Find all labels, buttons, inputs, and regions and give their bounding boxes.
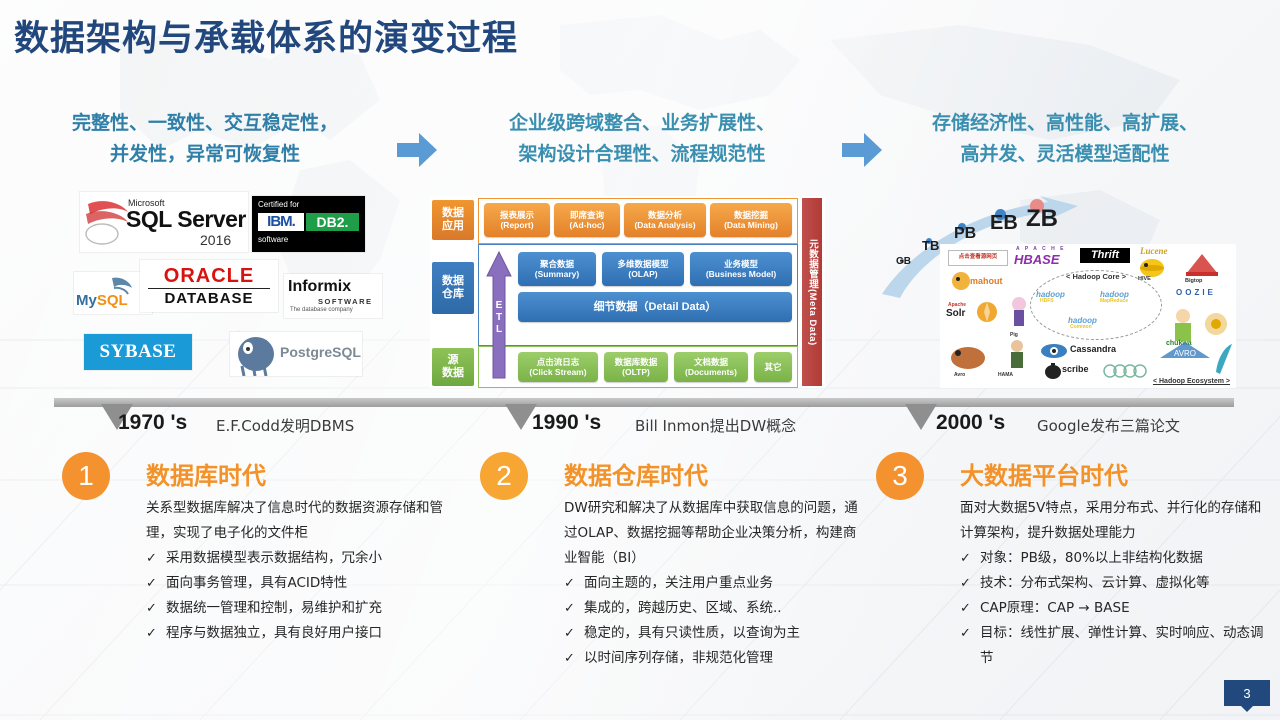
era-card-3-title: 大数据平台时代 bbox=[960, 456, 1128, 491]
stage3-header-line1: 存储经济性、高性能、高扩展、 bbox=[880, 108, 1250, 139]
eco-logo-scribe: scribe bbox=[1062, 364, 1089, 374]
era-card-3-body: 面对大数据5V特点，采用分布式、并行化的存储和计算架构，提升数据处理能力 ✓对象… bbox=[960, 496, 1272, 671]
volume-label-tb: TB bbox=[922, 238, 939, 253]
eco-logo-bigtop-label: Bigtop bbox=[1185, 278, 1202, 284]
eco-logo-scribe-icon bbox=[1044, 362, 1062, 380]
dw-side-label-application: 数据 应用 bbox=[432, 200, 474, 240]
logo-sql-server-name: SQL Server bbox=[126, 206, 246, 233]
timeline-year-3: 2000 's bbox=[936, 411, 1005, 435]
list-item: ✓数据统一管理和控制，易维护和扩充 bbox=[146, 596, 446, 621]
hadoop-ecosystem-image: 点击查看源网页 A P A C H E HBASE Thrift Lucene … bbox=[940, 244, 1236, 388]
era-card-1-number: 1 bbox=[62, 452, 110, 500]
dw-chip-click-stream: 点击流日志 (Click Stream) bbox=[518, 352, 598, 382]
volume-label-zb: ZB bbox=[1026, 205, 1058, 233]
dw-side-dwh-line2: 仓库 bbox=[442, 288, 464, 301]
eco-logo-avro-icon: AVRO bbox=[1158, 340, 1212, 366]
eco-logo-hdfs-sub: HDFS bbox=[1040, 298, 1054, 304]
stage1-header-line1: 完整性、一致性、交互稳定性， bbox=[40, 108, 370, 139]
dw-architecture-diagram: 数据 应用 数据 仓库 源 数据 报表展示 (Report) 即席查询 (Ad-… bbox=[430, 196, 825, 388]
logo-sybase: SYBASE bbox=[84, 334, 192, 370]
dw-chip-data-analysis: 数据分析 (Data Analysis) bbox=[624, 203, 706, 237]
dw-chip-other: 其它 bbox=[754, 352, 792, 382]
logo-informix-tagline: The database company bbox=[290, 307, 353, 313]
dw-chip-data-mining: 数据挖掘 (Data Mining) bbox=[710, 203, 792, 237]
check-icon: ✓ bbox=[564, 571, 575, 596]
dw-side-src-line2: 数据 bbox=[442, 367, 464, 380]
etl-label: ETL bbox=[489, 300, 509, 336]
volume-label-pb: PB bbox=[954, 225, 976, 243]
logo-db2-ibm-mark: IBM. bbox=[258, 213, 304, 231]
slide-canvas: 数据架构与承载体系的演变过程 完整性、一致性、交互稳定性， 并发性，异常可恢复性… bbox=[0, 0, 1280, 720]
era-card-2-bullets: ✓面向主题的，关注用户重点业务 ✓集成的，跨越历史、区域、系统.. ✓稳定的，具… bbox=[564, 571, 864, 671]
era-card-2-number: 2 bbox=[480, 452, 528, 500]
era-card-1-bullets: ✓采用数据模型表示数据结构，冗余小 ✓面向事务管理，具有ACID特性 ✓数据统一… bbox=[146, 546, 446, 646]
list-item: ✓程序与数据独立，具有良好用户接口 bbox=[146, 621, 446, 646]
eco-logo-common-sub: Common bbox=[1070, 324, 1092, 330]
check-icon: ✓ bbox=[564, 646, 575, 671]
stage2-header-line1: 企业级跨域整合、业务扩展性、 bbox=[452, 108, 832, 139]
eco-logo-hbase: HBASE bbox=[1014, 252, 1060, 267]
meta-data-management-bar: 元数据管理(Meta Data) bbox=[802, 198, 822, 386]
eco-logo-lucene: Lucene bbox=[1140, 246, 1168, 256]
logo-db2-software-text: software bbox=[258, 235, 288, 244]
stage3-header-line2: 高并发、灵活模型适配性 bbox=[880, 139, 1250, 170]
eco-logo-hama-icon bbox=[948, 338, 988, 372]
list-item: ✓目标：线性扩展、弹性计算、实时响应、动态调节 bbox=[960, 621, 1272, 671]
logo-informix: Informix SOFTWARE The database company bbox=[284, 274, 382, 318]
eco-logo-hama-label: Avro bbox=[954, 372, 965, 378]
dw-chip-summary: 聚合数据 (Summary) bbox=[518, 252, 596, 286]
dw-side-app-line1: 数据 bbox=[442, 207, 464, 220]
dw-side-label-source: 源 数据 bbox=[432, 348, 474, 386]
logo-postgresql: PostgreSQL bbox=[230, 332, 362, 376]
era-card-1-title: 数据库时代 bbox=[146, 456, 266, 491]
eco-logo-mahout-icon bbox=[950, 270, 972, 292]
hadoop-ecosystem-label: < Hadoop Ecosystem > bbox=[1153, 378, 1230, 385]
check-icon: ✓ bbox=[960, 546, 971, 571]
logo-informix-name: Informix bbox=[288, 278, 351, 296]
check-icon: ✓ bbox=[564, 596, 575, 621]
page-title: 数据架构与承载体系的演变过程 bbox=[14, 10, 518, 61]
timeline-marker-3 bbox=[905, 404, 937, 430]
eco-logo-bigtop-icon bbox=[1182, 252, 1222, 278]
logo-sql-server-year: 2016 bbox=[200, 232, 231, 248]
arrow-right-icon-1 bbox=[395, 128, 439, 172]
eco-logo-pig-icon bbox=[1006, 294, 1032, 332]
dw-chip-olap: 多维数据模型 (OLAP) bbox=[602, 252, 684, 286]
logo-oracle: ORACLE DATABASE bbox=[140, 260, 278, 312]
dw-side-app-line2: 应用 bbox=[442, 220, 464, 233]
check-icon: ✓ bbox=[146, 571, 157, 596]
check-icon: ✓ bbox=[146, 596, 157, 621]
stage1-header: 完整性、一致性、交互稳定性， 并发性，异常可恢复性 bbox=[40, 108, 370, 170]
eco-logo-sqoop-icon bbox=[1202, 310, 1230, 338]
logo-oracle-sub: DATABASE bbox=[150, 290, 268, 307]
check-icon: ✓ bbox=[960, 571, 971, 596]
era-card-1-body: 关系型数据库解决了信息时代的数据资源存储和管理，实现了电子化的文件柜 ✓采用数据… bbox=[146, 496, 446, 646]
stage2-header-line2: 架构设计合理性、流程规范性 bbox=[452, 139, 832, 170]
eco-logo-flume-icon bbox=[1212, 342, 1234, 376]
dw-chip-detail-data: 细节数据（Detail Data） bbox=[518, 292, 792, 322]
eco-logo-chukwa-icon bbox=[1168, 306, 1198, 344]
timeline-note-1: E.F.Codd发明DBMS bbox=[216, 415, 354, 436]
eco-logo-mahout: mahout bbox=[970, 276, 1003, 286]
logo-ibm-db2: Certified for IBM. DB2. software bbox=[252, 196, 365, 252]
list-item: ✓技术：分布式架构、云计算、虚拟化等 bbox=[960, 571, 1272, 596]
eco-logo-oozie: OOZIE bbox=[1176, 288, 1216, 297]
eco-logo-source-watermark: 点击查看源网页 bbox=[948, 250, 1008, 266]
list-item: ✓面向事务管理，具有ACID特性 bbox=[146, 571, 446, 596]
list-item: ✓对象：PB级，80%以上非结构化数据 bbox=[960, 546, 1272, 571]
era-card-3-bullets: ✓对象：PB级，80%以上非结构化数据 ✓技术：分布式架构、云计算、虚拟化等 ✓… bbox=[960, 546, 1272, 671]
era-card-2-body: DW研究和解决了从数据库中获取信息的问题，通过OLAP、数据挖掘等帮助企业决策分… bbox=[564, 496, 864, 671]
timeline-bar bbox=[54, 398, 1234, 407]
check-icon: ✓ bbox=[564, 621, 575, 646]
dw-side-dwh-line1: 数据 bbox=[442, 275, 464, 288]
era-card-3-number: 3 bbox=[876, 452, 924, 500]
timeline-year-2: 1990 's bbox=[532, 411, 601, 435]
volume-label-eb: EB bbox=[990, 212, 1018, 235]
page-number-badge: 3 bbox=[1224, 680, 1270, 706]
timeline-note-2: Bill Inmon提出DW概念 bbox=[635, 415, 796, 436]
era-card-2-title: 数据仓库时代 bbox=[564, 456, 708, 491]
check-icon: ✓ bbox=[960, 596, 971, 621]
logo-mysql-name: MySQL bbox=[76, 292, 128, 309]
volume-label-gb: GB bbox=[896, 256, 911, 267]
eco-logo-zookeeper-label: HAMA bbox=[998, 372, 1013, 378]
logo-informix-sub: SOFTWARE bbox=[318, 297, 373, 306]
timeline-note-3: Google发布三篇论文 bbox=[1037, 415, 1180, 436]
eco-logo-thrift: Thrift bbox=[1080, 248, 1130, 263]
dw-chip-documents: 文档数据 (Documents) bbox=[674, 352, 748, 382]
eco-logo-cassandra: Cassandra bbox=[1070, 344, 1116, 354]
era-card-1-paragraph: 关系型数据库解决了信息时代的数据资源存储和管理，实现了电子化的文件柜 bbox=[146, 496, 446, 546]
logo-oracle-name: ORACLE bbox=[150, 265, 268, 288]
logo-db2-mark: DB2. bbox=[306, 213, 359, 231]
eco-logo-sqoop-chain-icon bbox=[1102, 364, 1148, 378]
eco-logo-solr-icon bbox=[974, 300, 1000, 324]
hadoop-core-label: < Hadoop Core > bbox=[1036, 272, 1156, 281]
eco-logo-zookeeper-icon bbox=[1002, 338, 1032, 372]
arrow-right-icon-2 bbox=[840, 128, 884, 172]
dw-side-label-warehouse: 数据 仓库 bbox=[432, 262, 474, 314]
bigdata-ecosystem-panel: GB TB PB EB ZB 点击查看源网页 A P A C H E HBASE… bbox=[878, 196, 1238, 388]
eco-logo-cassandra-icon bbox=[1040, 342, 1068, 360]
logo-postgresql-name: PostgreSQL bbox=[280, 344, 361, 360]
dw-chip-business-model: 业务模型 (Business Model) bbox=[690, 252, 792, 286]
dw-chip-adhoc: 即席查询 (Ad-hoc) bbox=[554, 203, 620, 237]
stage3-header: 存储经济性、高性能、高扩展、 高并发、灵活模型适配性 bbox=[880, 108, 1250, 170]
dw-side-src-line1: 源 bbox=[448, 354, 459, 367]
era-card-2-paragraph: DW研究和解决了从数据库中获取信息的问题，通过OLAP、数据挖掘等帮助企业决策分… bbox=[564, 496, 864, 571]
check-icon: ✓ bbox=[146, 621, 157, 646]
dw-chip-report: 报表展示 (Report) bbox=[484, 203, 550, 237]
list-item: ✓面向主题的，关注用户重点业务 bbox=[564, 571, 864, 596]
eco-logo-solr: Solr bbox=[946, 308, 965, 319]
dw-chip-oltp: 数据库数据 (OLTP) bbox=[604, 352, 668, 382]
list-item: ✓采用数据模型表示数据结构，冗余小 bbox=[146, 546, 446, 571]
logo-db2-certified-text: Certified for bbox=[258, 200, 299, 209]
list-item: ✓集成的，跨越历史、区域、系统.. bbox=[564, 596, 864, 621]
logo-sql-server: Microsoft SQL Server 2016 bbox=[80, 192, 248, 252]
check-icon: ✓ bbox=[960, 621, 971, 646]
rdbms-logo-group: Microsoft SQL Server 2016 Certified for … bbox=[62, 192, 412, 388]
eco-logo-mapreduce-sub: MapReduce bbox=[1100, 298, 1128, 304]
era-card-3-paragraph: 面对大数据5V特点，采用分布式、并行化的存储和计算架构，提升数据处理能力 bbox=[960, 496, 1272, 546]
list-item: ✓以时间序列存储，非规范化管理 bbox=[564, 646, 864, 671]
list-item: ✓稳定的，具有只读性质，以查询为主 bbox=[564, 621, 864, 646]
stage1-header-line2: 并发性，异常可恢复性 bbox=[40, 139, 370, 170]
list-item: ✓CAP原理：CAP → BASE bbox=[960, 596, 1272, 621]
check-icon: ✓ bbox=[146, 546, 157, 571]
logo-sybase-name: SYBASE bbox=[84, 334, 192, 370]
svg-text:AVRO: AVRO bbox=[1174, 349, 1196, 358]
timeline-year-1: 1970 's bbox=[118, 411, 187, 435]
stage2-header: 企业级跨域整合、业务扩展性、 架构设计合理性、流程规范性 bbox=[452, 108, 832, 170]
